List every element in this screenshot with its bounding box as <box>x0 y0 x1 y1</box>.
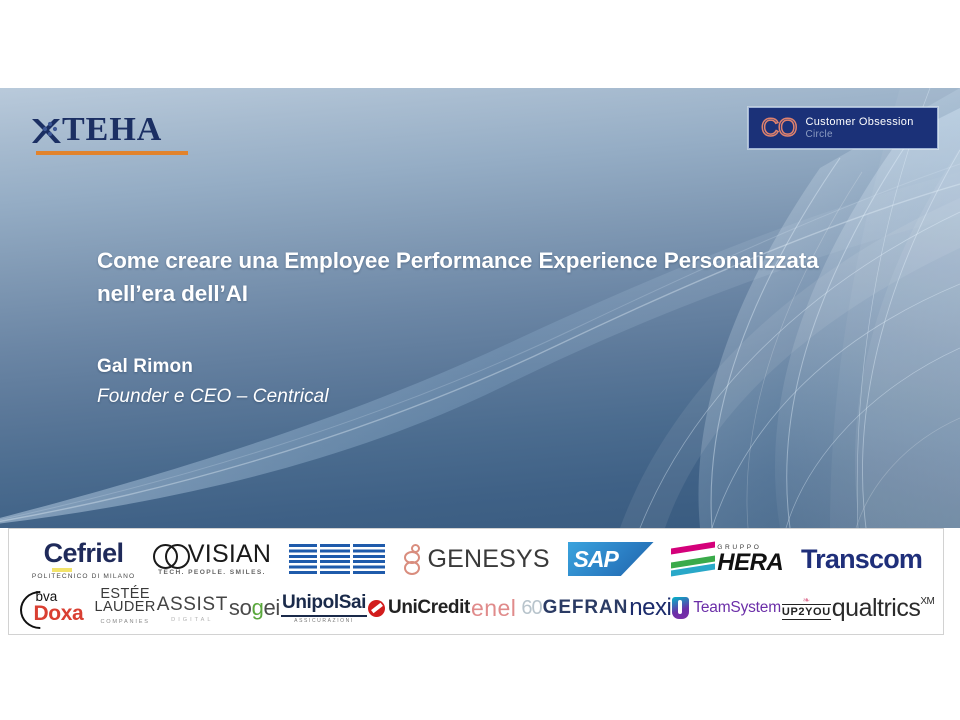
teamsystem-shield-icon <box>672 597 689 619</box>
logo-gefran: GEFRAN <box>543 597 629 619</box>
partner-logo-strip: Cefriel POLITECNICO DI MILANO VISIAN TEC… <box>8 528 944 635</box>
unicredit-lockup: UniCredit <box>368 597 470 619</box>
sap-badge-icon: SAP <box>568 542 654 576</box>
logo-nexi: nexi <box>629 594 671 622</box>
up2you-wordmark: UP2YOU <box>782 604 831 620</box>
ibm-striped-wordmark-icon <box>289 544 385 574</box>
sogei-part-1: so <box>229 595 252 620</box>
co-badge-title: Customer Obsession <box>806 116 914 128</box>
co-badge-subtitle: Circle <box>806 129 914 140</box>
teamsystem-lockup: TeamSystem <box>672 597 781 619</box>
hera-wordmark: HERA <box>717 552 783 574</box>
cefriel-accent-bar <box>52 568 72 572</box>
unipolsai-subtitle: ASSICURAZIONI <box>294 618 354 624</box>
slide-title-section: TEHA CO Customer Obsession Circle Come c… <box>0 88 960 528</box>
sogei-accent-g: g <box>252 595 264 620</box>
partner-logo-row-primary: Cefriel POLITECNICO DI MILANO VISIAN TEC… <box>9 533 945 585</box>
logo-sogei: sogei <box>229 595 280 621</box>
teha-wordmark: TEHA <box>62 110 162 150</box>
logo-covisian: VISIAN TECH. PEOPLE. SMILES. <box>153 542 271 576</box>
genesys-lockup: GENESYS <box>403 544 550 574</box>
unicredit-wordmark: UniCredit <box>388 597 470 619</box>
nexi-wordmark: nexi <box>629 594 671 622</box>
doxa-wordmark: Doxa <box>34 602 84 626</box>
hera-stripes-icon <box>671 544 715 574</box>
sap-wordmark: SAP <box>574 546 618 573</box>
logo-cefriel: Cefriel POLITECNICO DI MILANO <box>32 539 135 580</box>
logo-enel: enel 60 <box>471 595 542 622</box>
co-badge-text: Customer Obsession Circle <box>806 116 914 140</box>
logo-transcom: Transcom <box>801 544 922 575</box>
presentation-slide: TEHA CO Customer Obsession Circle Come c… <box>0 88 960 636</box>
ibm-letter-b <box>320 544 350 574</box>
unipolsai-rule <box>281 615 367 617</box>
estee-subtitle: COMPANIES <box>100 616 149 629</box>
enel-lockup: enel 60 <box>471 595 542 622</box>
logo-assist-digital: ASSIST DIGITAL <box>157 594 228 623</box>
teha-emblem-icon <box>30 116 64 146</box>
slide-headline: Come creare una Employee Performance Exp… <box>97 244 897 310</box>
ibm-letter-m <box>353 544 385 574</box>
qualtrics-wordmark: qualtrics <box>832 594 921 623</box>
assist-subtitle: DIGITAL <box>171 617 213 623</box>
logo-unicredit: UniCredit <box>368 597 470 619</box>
covisian-tagline: TECH. PEOPLE. SMILES. <box>158 569 266 576</box>
hera-lockup: GRUPPO HERA <box>671 544 783 574</box>
logo-genesys: GENESYS <box>403 544 550 574</box>
co-monogram: CO <box>761 115 797 141</box>
gefran-wordmark: GEFRAN <box>543 597 629 619</box>
genesys-wordmark: GENESYS <box>428 545 550 574</box>
covisian-wordmark: VISIAN <box>188 542 271 567</box>
unipolsai-wordmark: UnipolSai <box>282 592 366 614</box>
covisian-lockup: VISIAN <box>153 542 271 567</box>
covisian-rings-icon <box>153 544 187 565</box>
assist-wordmark: ASSIST <box>157 594 228 616</box>
hera-text: GRUPPO HERA <box>717 544 783 574</box>
teha-underline-rule <box>36 151 188 155</box>
ibm-letter-i <box>289 544 317 574</box>
customer-obsession-circle-badge: CO Customer Obsession Circle <box>748 107 938 149</box>
qualtrics-xm-superscript: XM <box>920 596 934 607</box>
estee-line-2: LAUDER <box>95 601 156 614</box>
logo-estee-lauder: ESTÉE LAUDER COMPANIES <box>95 588 156 629</box>
cefriel-wordmark: Cefriel <box>44 539 124 567</box>
logo-ibm <box>289 544 385 574</box>
speaker-role: Founder e CEO – Centrical <box>97 386 329 408</box>
sogei-part-2: ei <box>264 595 281 620</box>
logo-unipolsai: UnipolSai ASSICURAZIONI <box>281 592 367 624</box>
logo-qualtrics: qualtrics XM <box>832 594 935 623</box>
logo-gruppo-hera: GRUPPO HERA <box>671 544 783 574</box>
enel-wordmark: enel <box>471 595 516 622</box>
up2you-leaf-icon: ❧ <box>803 596 811 604</box>
unicredit-circle-icon <box>368 600 385 617</box>
logo-teamsystem: TeamSystem <box>672 597 781 619</box>
doxa-lockup: bva Doxa <box>20 589 94 627</box>
enel-anniversary-mark: 60 <box>521 597 541 620</box>
partner-logo-row-secondary: bva Doxa ESTÉE LAUDER COMPANIES ASSIST D… <box>9 585 945 631</box>
speaker-name: Gal Rimon <box>97 356 193 378</box>
teamsystem-wordmark: TeamSystem <box>693 599 781 617</box>
logo-bva-doxa: bva Doxa <box>20 589 94 627</box>
qualtrics-lockup: qualtrics XM <box>832 594 935 623</box>
teha-logo: TEHA <box>30 114 190 158</box>
cefriel-subtitle: POLITECNICO DI MILANO <box>32 573 135 580</box>
transcom-wordmark: Transcom <box>801 544 922 575</box>
genesys-dots-icon <box>403 544 422 574</box>
logo-sap: SAP <box>568 542 654 576</box>
logo-up2you: ❧ UP2YOU <box>782 596 831 620</box>
sogei-wordmark: sogei <box>229 595 280 621</box>
